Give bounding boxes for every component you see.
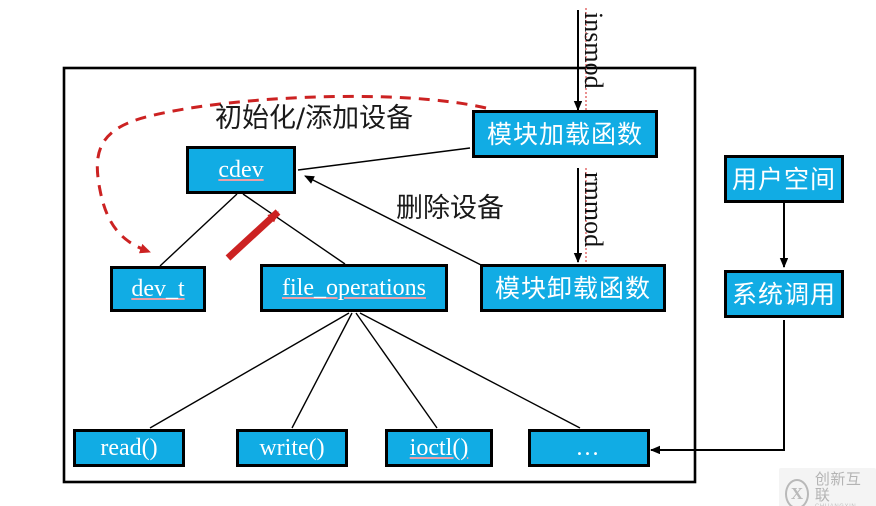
node-file-operations-label: file_operations: [282, 276, 426, 300]
node-more[interactable]: …: [528, 429, 650, 467]
edge-cdev-to-devt: [160, 194, 237, 266]
edge-syscall-to-more: [651, 320, 784, 450]
node-dev-t-label: dev_t: [131, 277, 184, 301]
insmod-label: insmod: [580, 12, 606, 89]
node-user-space[interactable]: 用户空间: [724, 155, 844, 203]
node-module-unload[interactable]: 模块卸载函数: [480, 264, 666, 312]
watermark-text: 创新互联 CHUANGXIN HULIAN: [815, 472, 868, 506]
node-ioctl[interactable]: ioctl(): [385, 429, 493, 467]
node-write-label: write(): [259, 436, 324, 460]
node-write[interactable]: write(): [236, 429, 348, 467]
node-cdev[interactable]: cdev: [186, 146, 296, 194]
edge-fops-to-ioctl: [356, 313, 437, 428]
node-module-load-label: 模块加载函数: [487, 122, 643, 147]
watermark-logo-icon: X: [785, 479, 809, 506]
edge-moduleload-to-cdev: [298, 148, 470, 170]
node-module-unload-label: 模块卸载函数: [495, 276, 651, 301]
edge-fops-to-more: [360, 313, 580, 428]
diagram-canvas: insmod rmmod 初始化/添加设备 删除设备 模块加载函数 模块卸载函数…: [0, 0, 876, 506]
watermark-cn: 创新互联: [815, 472, 868, 504]
node-more-label: …: [576, 436, 603, 460]
node-file-operations[interactable]: file_operations: [260, 264, 448, 312]
node-ioctl-label: ioctl(): [410, 436, 469, 460]
node-read[interactable]: read(): [73, 429, 185, 467]
node-cdev-label: cdev: [218, 158, 263, 182]
caption-init-add-device: 初始化/添加设备: [215, 105, 413, 132]
node-system-call-label: 系统调用: [732, 282, 836, 307]
node-read-label: read(): [100, 436, 157, 460]
node-system-call[interactable]: 系统调用: [724, 270, 844, 318]
red-emphasis-arrow: [228, 212, 278, 258]
rmmod-label: rmmod: [580, 172, 606, 247]
edge-fops-to-write: [292, 313, 352, 428]
node-dev-t[interactable]: dev_t: [110, 266, 206, 312]
edge-cdev-to-fileoperations: [243, 194, 345, 264]
watermark: X 创新互联 CHUANGXIN HULIAN: [779, 468, 876, 506]
node-module-load[interactable]: 模块加载函数: [472, 110, 658, 158]
edge-fops-to-read: [150, 313, 349, 428]
caption-delete-device: 删除设备: [396, 195, 504, 222]
node-user-space-label: 用户空间: [732, 167, 836, 192]
